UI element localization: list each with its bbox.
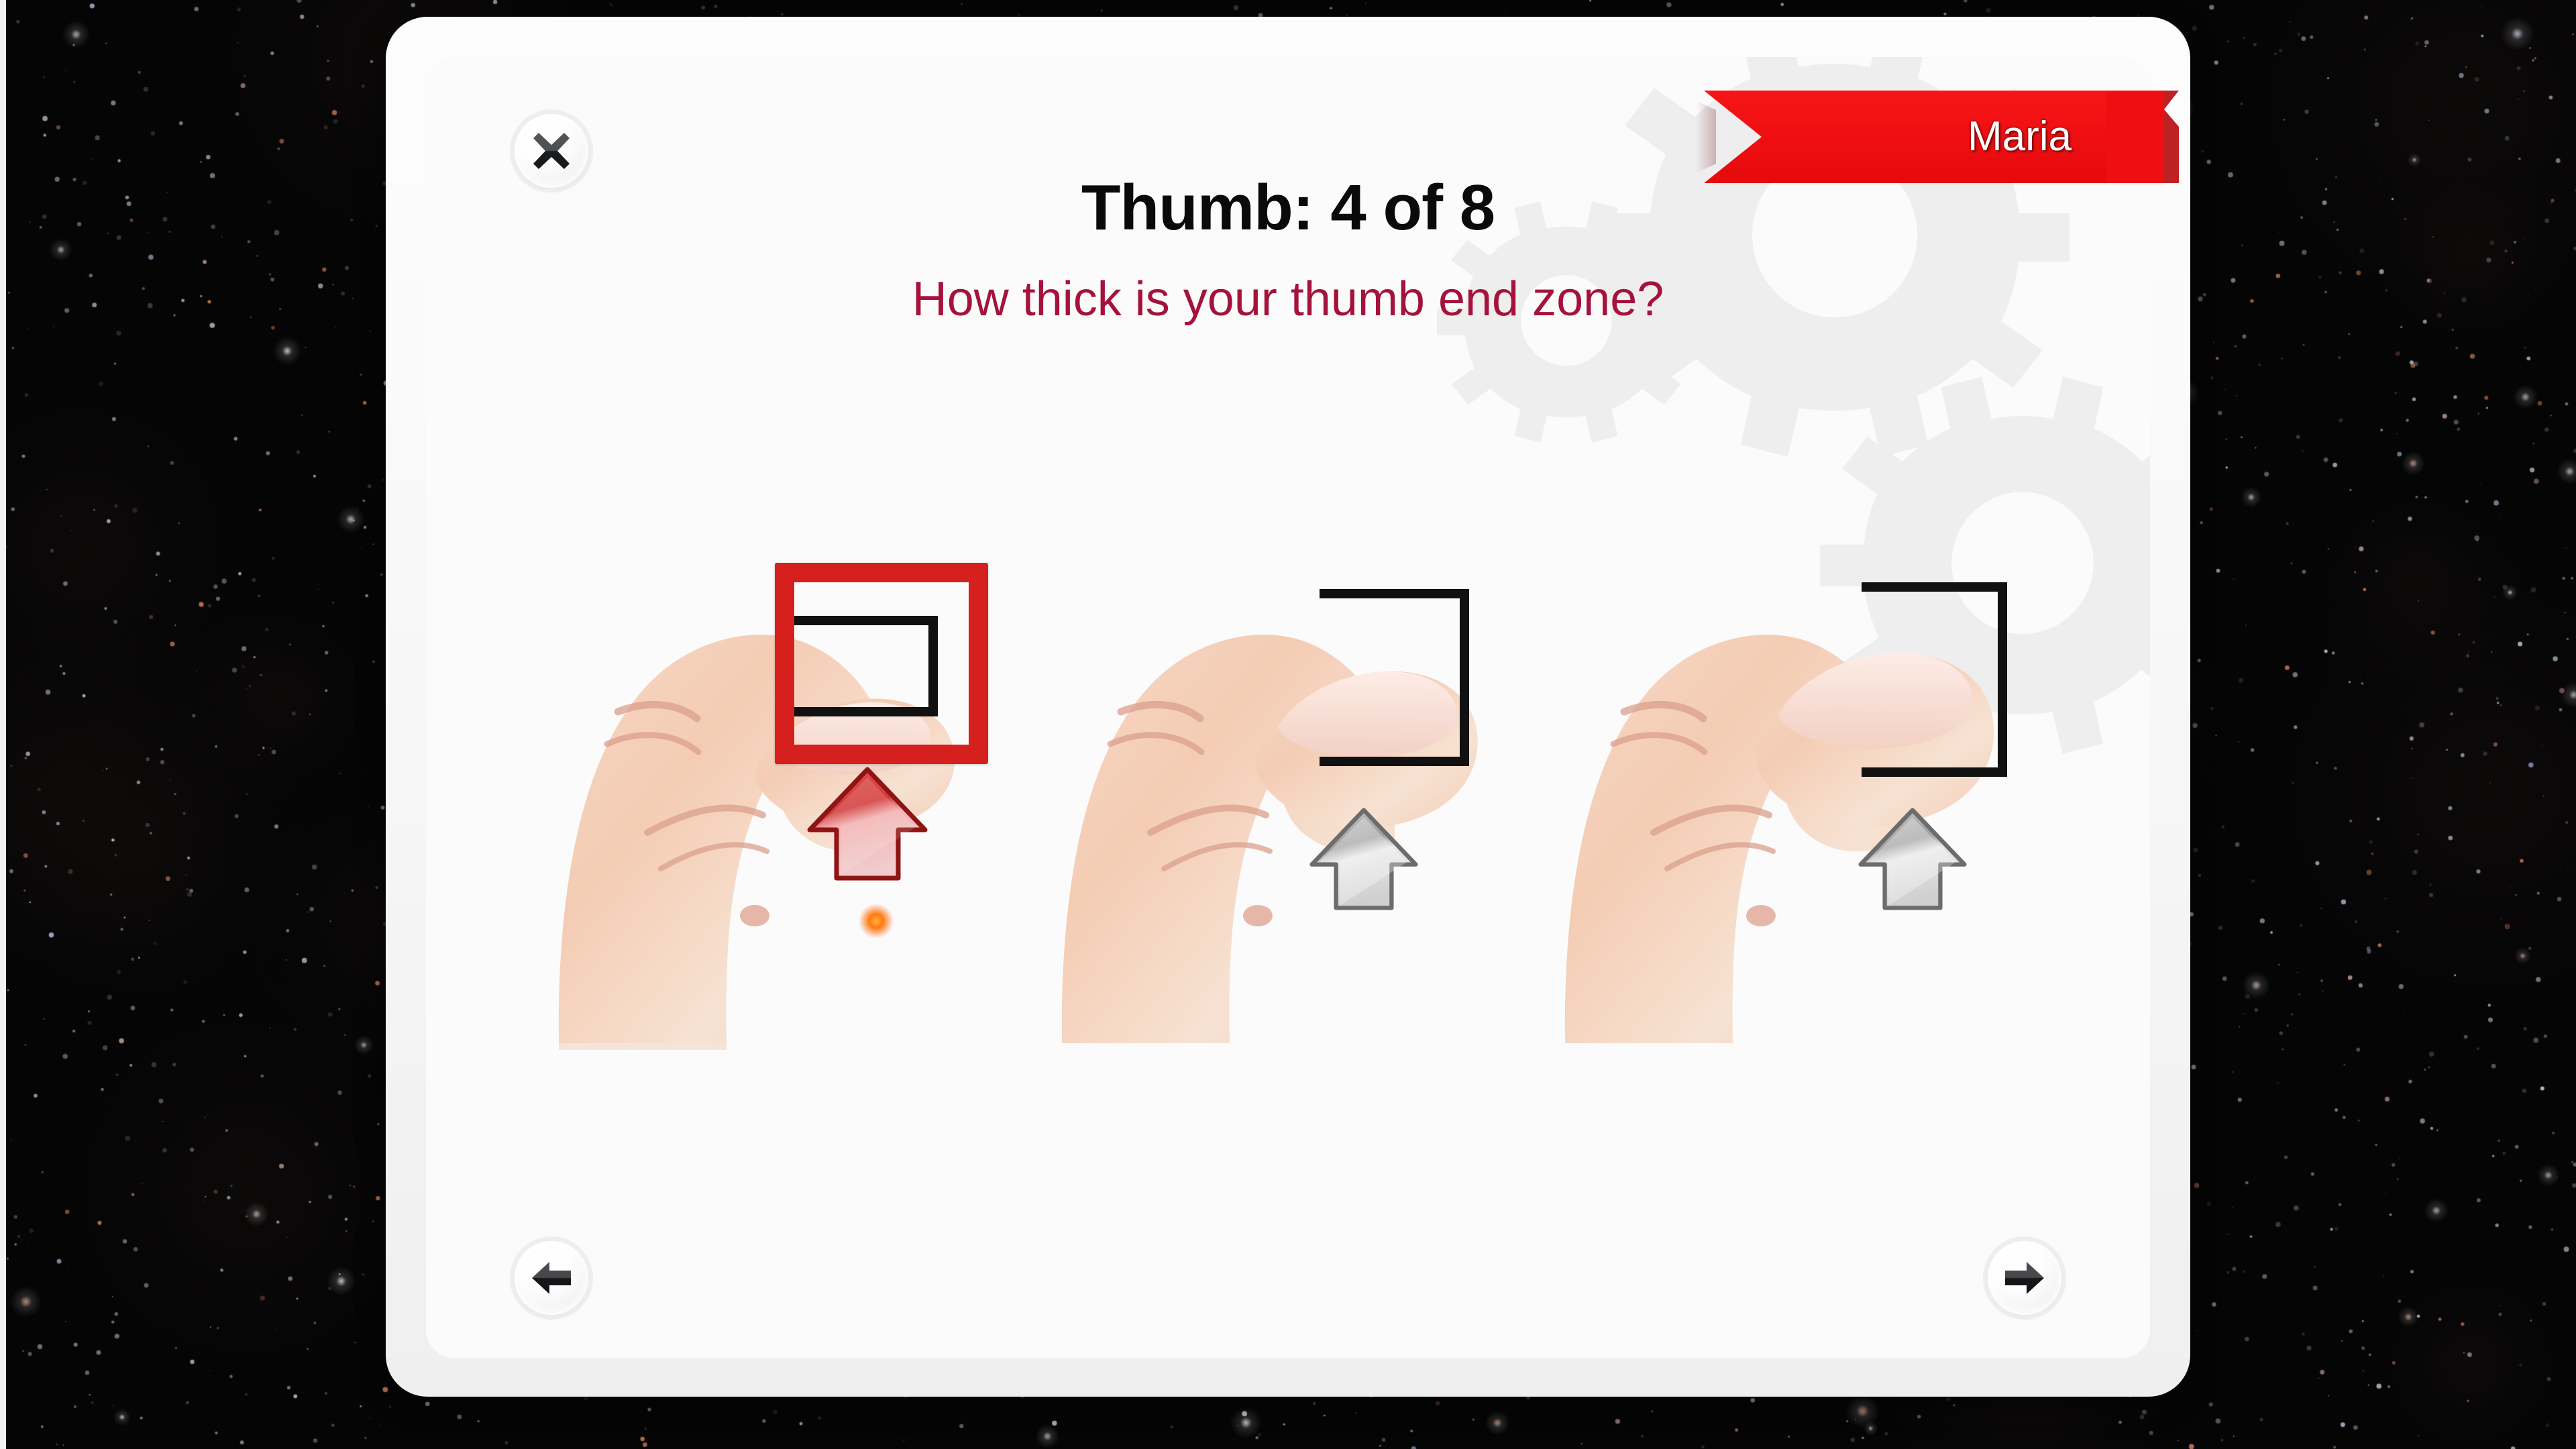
left-edge-strip — [0, 0, 6, 1449]
user-ribbon[interactable]: Maria — [1704, 91, 2106, 183]
ribbon-fold-shadow — [1696, 101, 1716, 173]
app-root: Thumb: 4 of 8 How thick is your thumb en… — [0, 0, 2576, 1449]
arrow-up-icon[interactable] — [1303, 802, 1424, 922]
close-button[interactable] — [515, 114, 588, 188]
thumb-option-3[interactable] — [1560, 580, 2070, 1117]
arrow-right-icon — [2002, 1256, 2047, 1300]
dialog-inner-panel: Thumb: 4 of 8 How thick is your thumb en… — [426, 57, 2150, 1358]
arrow-up-icon[interactable] — [1852, 802, 1973, 922]
arrow-up-icon[interactable] — [800, 760, 934, 894]
arrow-left-icon — [529, 1256, 574, 1300]
user-ribbon-label: Maria — [1968, 116, 2072, 158]
thumb-option-2[interactable] — [1057, 580, 1566, 1117]
thumb-illustration-thick — [1560, 580, 2070, 1117]
selection-highlight-box — [775, 563, 988, 764]
selection-glow-marker — [859, 904, 894, 938]
page-subtitle: How thick is your thumb end zone? — [426, 272, 2150, 327]
previous-button[interactable] — [515, 1241, 588, 1315]
ribbon-tail — [2100, 91, 2186, 183]
next-button[interactable] — [1988, 1241, 2061, 1315]
close-x-icon — [529, 128, 574, 174]
dialog-card: Thumb: 4 of 8 How thick is your thumb en… — [386, 17, 2190, 1397]
thumb-option-1[interactable] — [553, 580, 1063, 1117]
